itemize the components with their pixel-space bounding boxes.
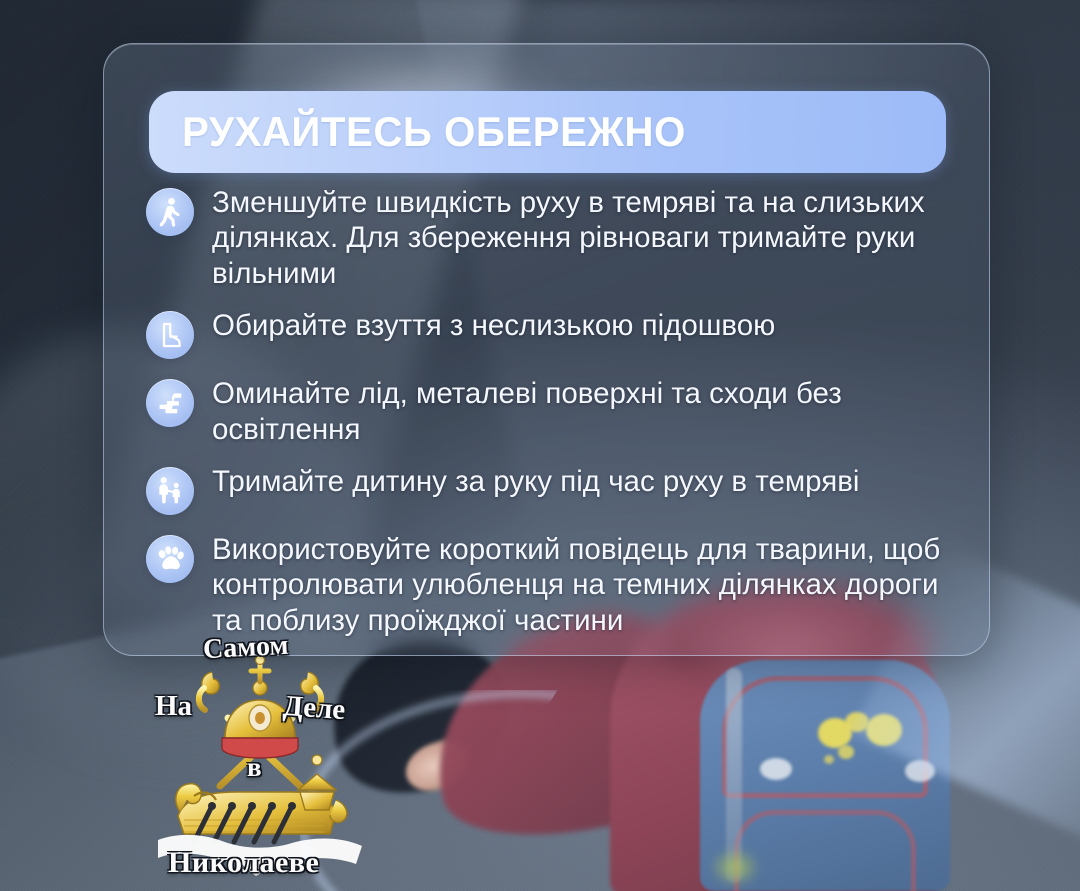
poster-canvas: РУХАЙТЕСЬ ОБЕРЕЖНО Зменшуйте швидкість р… <box>0 0 1080 891</box>
backpack-cloud-pattern <box>760 758 792 780</box>
parent-and-child-icon <box>146 467 194 515</box>
list-item: Використовуйте короткий повідець для тва… <box>146 532 961 638</box>
safety-tips-card: РУХАЙТЕСЬ ОБЕРЕЖНО Зменшуйте швидкість р… <box>103 43 990 656</box>
list-item-label: Використовуйте короткий повідець для тва… <box>212 532 961 638</box>
list-item: Обирайте взуття з неслизькою підошвою <box>146 308 961 359</box>
stairs-icon <box>146 379 194 427</box>
list-item-label: Зменшуйте швидкість руху в темряві та на… <box>212 185 961 291</box>
boot-icon <box>146 311 194 359</box>
list-item-label: Оминайте лід, металеві поверхні та сходи… <box>212 376 961 447</box>
list-item: Тримайте дитину за руку під час руху в т… <box>146 464 961 515</box>
tips-list: Зменшуйте швидкість руху в темряві та на… <box>146 185 961 638</box>
page-title: РУХАЙТЕСЬ ОБЕРЕЖНО <box>182 111 686 153</box>
backpack-sun-pattern <box>824 755 834 764</box>
list-item: Оминайте лід, металеві поверхні та сходи… <box>146 376 961 447</box>
title-banner: РУХАЙТЕСЬ ОБЕРЕЖНО <box>149 91 946 173</box>
list-item-label: Обирайте взуття з неслизькою підошвою <box>212 308 775 343</box>
list-item-label: Тримайте дитину за руку під час руху в т… <box>212 464 859 499</box>
paw-print-icon <box>146 535 194 583</box>
pedestrian-walking-icon <box>146 188 194 236</box>
backpack-charm-shape <box>700 840 770 891</box>
backpack-sun-pattern <box>838 745 854 759</box>
list-item: Зменшуйте швидкість руху в темряві та на… <box>146 185 961 291</box>
